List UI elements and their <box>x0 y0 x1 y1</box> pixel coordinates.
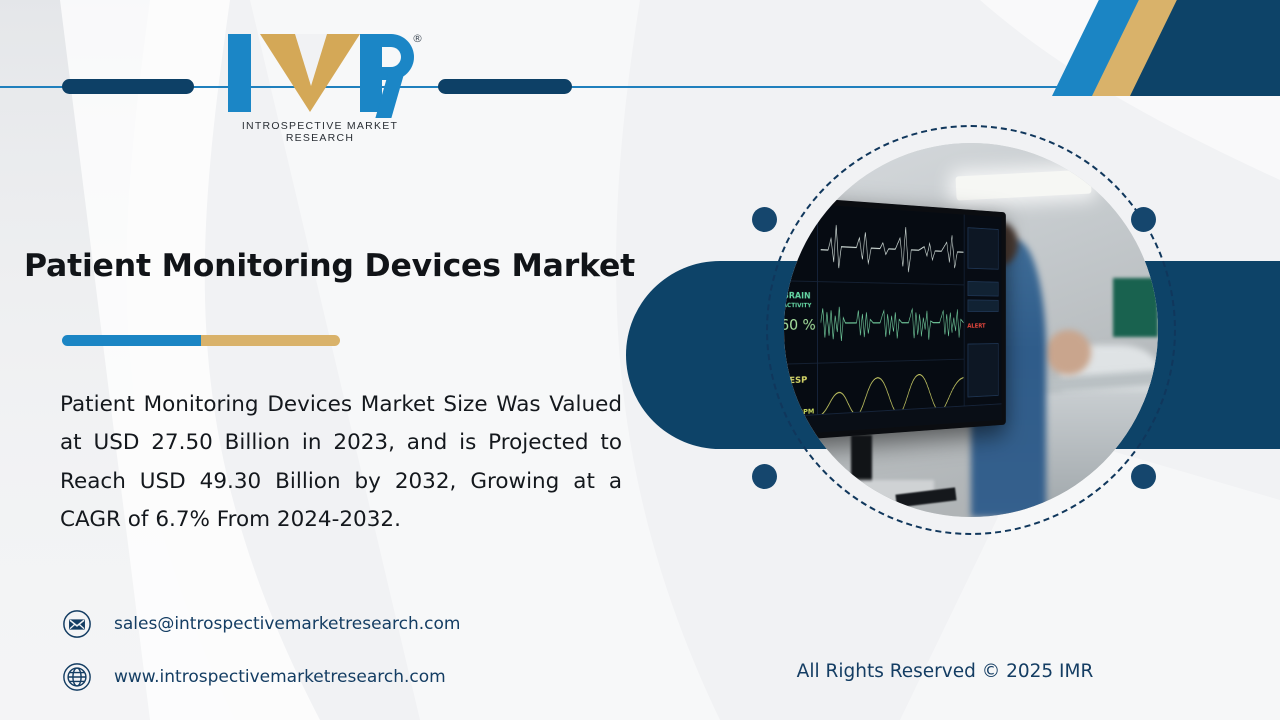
poster-canvas: ® INTROSPECTIVE MARKET RESEARCH Patient … <box>0 0 1280 720</box>
market-summary-value: Patient Monitoring Devices Market Size W… <box>60 392 622 532</box>
globe-icon <box>62 662 92 692</box>
logo-letter-i <box>228 34 251 112</box>
label-resp: RESP <box>784 376 807 387</box>
logo-mark: ® <box>222 28 422 113</box>
website-text: www.introspectivemarketresearch.com <box>114 667 446 687</box>
patient-monitor-device: nSp 12 ALERT <box>784 195 1006 442</box>
email-text: sales@introspectivemarketresearch.com <box>114 614 460 634</box>
monitor-right-panel: nSp 12 ALERT <box>963 215 1001 423</box>
label-ekg: EKG <box>784 212 802 223</box>
registered-mark-icon: ® <box>412 32 423 45</box>
logo-letter-r <box>360 34 412 112</box>
header-bar-left <box>62 79 194 94</box>
ring-dot-top-left <box>752 207 777 232</box>
copyright-text: All Rights Reserved © 2025 IMR <box>780 661 1110 682</box>
monitor-screen: nSp 12 ALERT <box>784 202 1002 436</box>
divider-blue-segment <box>62 335 201 346</box>
ring-dot-bottom-left <box>752 464 777 489</box>
market-summary-text: Patient Monitoring Devices Market Size W… <box>60 386 622 540</box>
label-activity: ACTIVITY <box>784 302 811 309</box>
label-bpm: BPM <box>784 233 801 243</box>
contact-website[interactable]: www.introspectivemarketresearch.com <box>62 662 446 692</box>
logo-letter-m-notch <box>295 34 327 86</box>
divider-gold-segment <box>201 335 340 346</box>
accent-divider <box>62 335 340 346</box>
hero-photo: nSp 12 ALERT <box>784 143 1158 517</box>
imr-logo[interactable]: ® INTROSPECTIVE MARKET RESEARCH <box>222 28 422 143</box>
label-brain: BRAIN <box>784 292 811 302</box>
patient-figure <box>1046 330 1091 375</box>
envelope-icon <box>62 609 92 639</box>
brain-activity-waveform <box>821 296 964 351</box>
contact-email[interactable]: sales@introspectivemarketresearch.com <box>62 609 460 639</box>
corner-ribbons <box>1050 0 1280 96</box>
spo2-value: 60 % <box>784 316 816 334</box>
logo-tagline: INTROSPECTIVE MARKET RESEARCH <box>215 120 425 144</box>
header-bar-right <box>438 79 572 94</box>
medical-equipment <box>1113 278 1158 338</box>
monitor-alarm-text: ALERT <box>967 323 985 330</box>
hospital-room-scene: nSp 12 ALERT <box>784 143 1158 517</box>
heart-icon: ♡ <box>785 251 796 266</box>
ekg-waveform <box>821 216 964 279</box>
page-title: Patient Monitoring Devices Market <box>24 248 664 284</box>
